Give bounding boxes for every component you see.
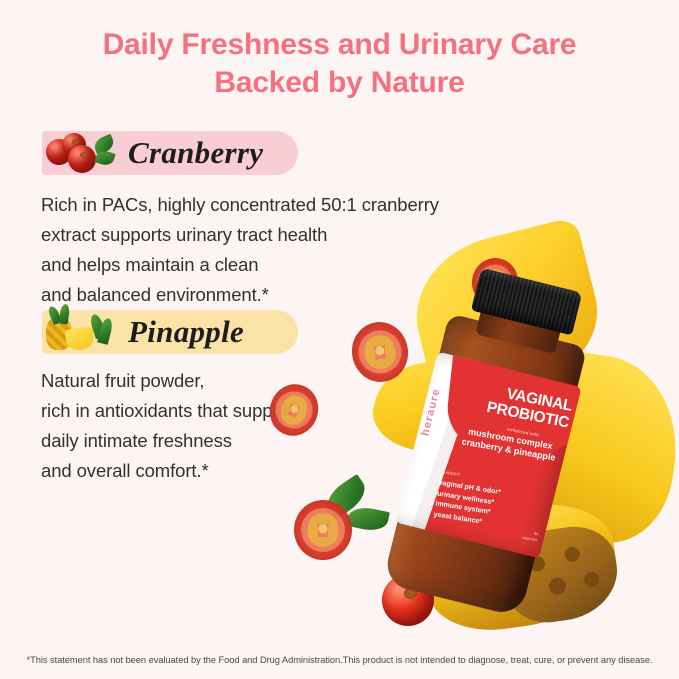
ingredient-title-cranberry: Cranberry [128, 135, 263, 171]
support-label: support [443, 469, 461, 477]
headline-line-1: Daily Freshness and Urinary Care [103, 28, 577, 61]
benefits-list: vaginal pH & odor* urinary wellness* imm… [433, 479, 501, 530]
ingredient-banner-pineapple: Pinapple [42, 310, 298, 354]
cranberry-fruit-icon [42, 131, 120, 175]
cranberry-slice-with-leaves [294, 486, 390, 564]
ingredient-banner-cranberry: Cranberry [42, 131, 298, 175]
headline-line-2: Backed by Nature [0, 64, 679, 102]
product-photo: heraure VAGINAL PROBIOTIC enhanced with … [276, 236, 679, 646]
ingredient-title-pineapple: Pinapple [128, 314, 244, 350]
fda-disclaimer: *This statement has not been evaluated b… [0, 655, 679, 665]
page-title: Daily Freshness and Urinary Care Backed … [0, 26, 679, 102]
pineapple-fruit-icon [42, 310, 120, 354]
product-infographic: Daily Freshness and Urinary Care Backed … [0, 0, 679, 679]
capsule-count: 60 capsules [492, 524, 539, 542]
